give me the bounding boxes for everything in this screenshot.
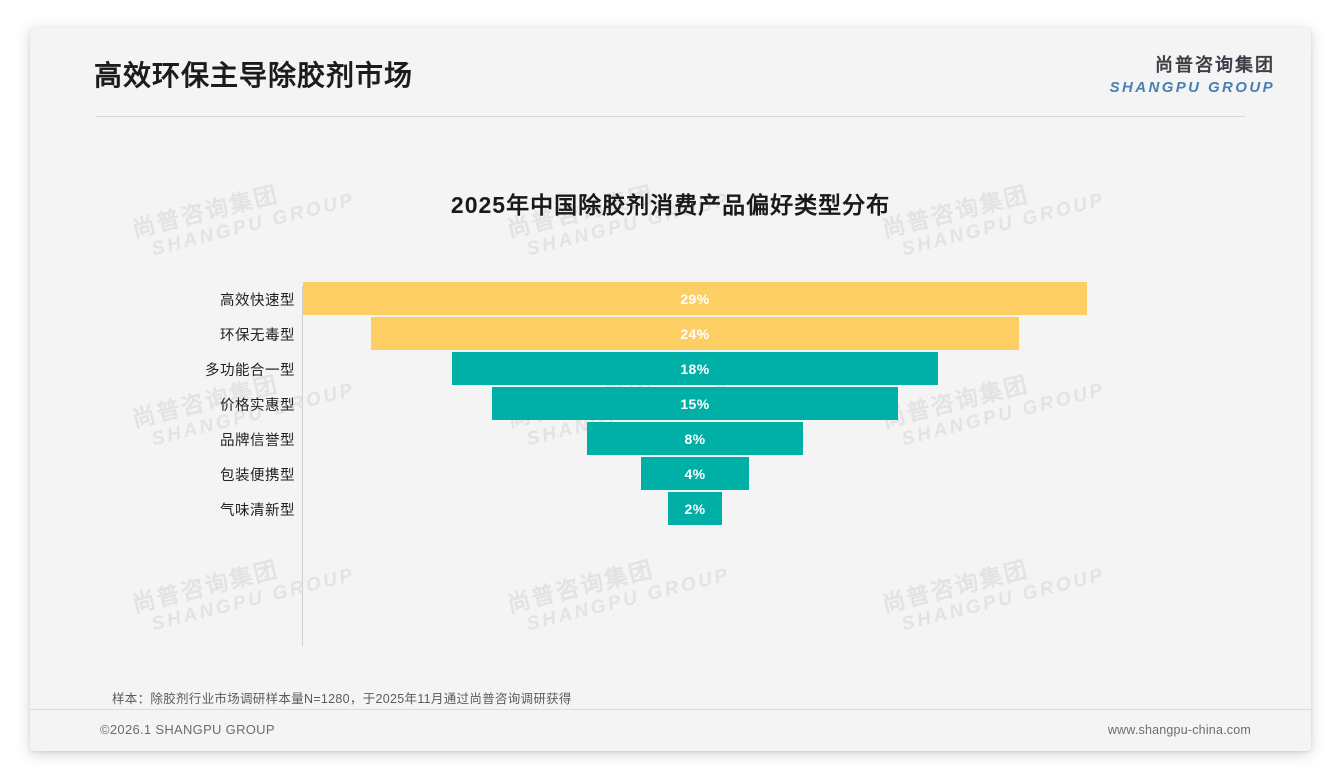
funnel-bar[interactable]: 4% bbox=[641, 457, 749, 490]
bar-value-label: 24% bbox=[680, 326, 709, 342]
funnel-bar[interactable]: 2% bbox=[668, 492, 722, 525]
funnel-bar-row: 环保无毒型24% bbox=[30, 317, 1311, 352]
funnel-bar-row: 价格实惠型15% bbox=[30, 387, 1311, 422]
chart-container: 2025年中国除胶剂消费产品偏好类型分布 高效快速型29%环保无毒型24%多功能… bbox=[30, 124, 1311, 684]
funnel-bar-row: 高效快速型29% bbox=[30, 282, 1311, 317]
bar-category-label: 多功能合一型 bbox=[140, 359, 295, 380]
funnel-bar[interactable]: 29% bbox=[303, 282, 1087, 315]
funnel-bar-row: 气味清新型2% bbox=[30, 492, 1311, 527]
funnel-bar-list: 高效快速型29%环保无毒型24%多功能合一型18%价格实惠型15%品牌信誉型8%… bbox=[30, 282, 1311, 527]
slide-root: 高效环保主导除胶剂市场 尚普咨询集团 SHANGPU GROUP 尚普咨询集团S… bbox=[0, 0, 1340, 780]
bar-track: 2% bbox=[303, 492, 1115, 527]
slide-card: 高效环保主导除胶剂市场 尚普咨询集团 SHANGPU GROUP 尚普咨询集团S… bbox=[30, 28, 1311, 751]
bar-track: 18% bbox=[303, 352, 1115, 387]
funnel-bar[interactable]: 24% bbox=[371, 317, 1020, 350]
bar-value-label: 8% bbox=[684, 431, 705, 447]
chart-plot-area: 高效快速型29%环保无毒型24%多功能合一型18%价格实惠型15%品牌信誉型8%… bbox=[30, 282, 1311, 654]
bar-value-label: 29% bbox=[680, 291, 709, 307]
brand-logo-cn: 尚普咨询集团 bbox=[1110, 54, 1275, 76]
brand-logo-en: SHANGPU GROUP bbox=[1110, 78, 1275, 98]
funnel-bar-row: 多功能合一型18% bbox=[30, 352, 1311, 387]
chart-title: 2025年中国除胶剂消费产品偏好类型分布 bbox=[30, 186, 1311, 220]
brand-logo: 尚普咨询集团 SHANGPU GROUP bbox=[1110, 54, 1275, 98]
bar-track: 24% bbox=[303, 317, 1115, 352]
slide-footer: ©2026.1 SHANGPU GROUP www.shangpu-china.… bbox=[30, 710, 1311, 751]
funnel-bar[interactable]: 18% bbox=[452, 352, 939, 385]
header-divider bbox=[96, 116, 1245, 117]
slide-header: 高效环保主导除胶剂市场 尚普咨询集团 SHANGPU GROUP bbox=[30, 28, 1311, 117]
bar-value-label: 15% bbox=[680, 396, 709, 412]
bar-track: 8% bbox=[303, 422, 1115, 457]
sample-note: 样本：除胶剂行业市场调研样本量N=1280，于2025年11月通过尚普咨询调研获… bbox=[112, 688, 572, 707]
bar-category-label: 高效快速型 bbox=[140, 289, 295, 310]
bar-track: 4% bbox=[303, 457, 1115, 492]
bar-category-label: 气味清新型 bbox=[140, 499, 295, 520]
bar-track: 15% bbox=[303, 387, 1115, 422]
bar-value-label: 18% bbox=[680, 361, 709, 377]
bar-category-label: 环保无毒型 bbox=[140, 324, 295, 345]
bar-category-label: 包装便携型 bbox=[140, 464, 295, 485]
footer-copyright: ©2026.1 SHANGPU GROUP bbox=[100, 722, 275, 737]
bar-category-label: 价格实惠型 bbox=[140, 394, 295, 415]
footer-website[interactable]: www.shangpu-china.com bbox=[1108, 723, 1251, 737]
bar-category-label: 品牌信誉型 bbox=[140, 429, 295, 450]
funnel-bar-row: 品牌信誉型8% bbox=[30, 422, 1311, 457]
page-title: 高效环保主导除胶剂市场 bbox=[94, 56, 413, 96]
funnel-bar-row: 包装便携型4% bbox=[30, 457, 1311, 492]
bar-value-label: 2% bbox=[684, 501, 705, 517]
bar-value-label: 4% bbox=[684, 466, 705, 482]
bar-track: 29% bbox=[303, 282, 1115, 317]
funnel-bar[interactable]: 15% bbox=[492, 387, 898, 420]
funnel-bar[interactable]: 8% bbox=[587, 422, 803, 455]
